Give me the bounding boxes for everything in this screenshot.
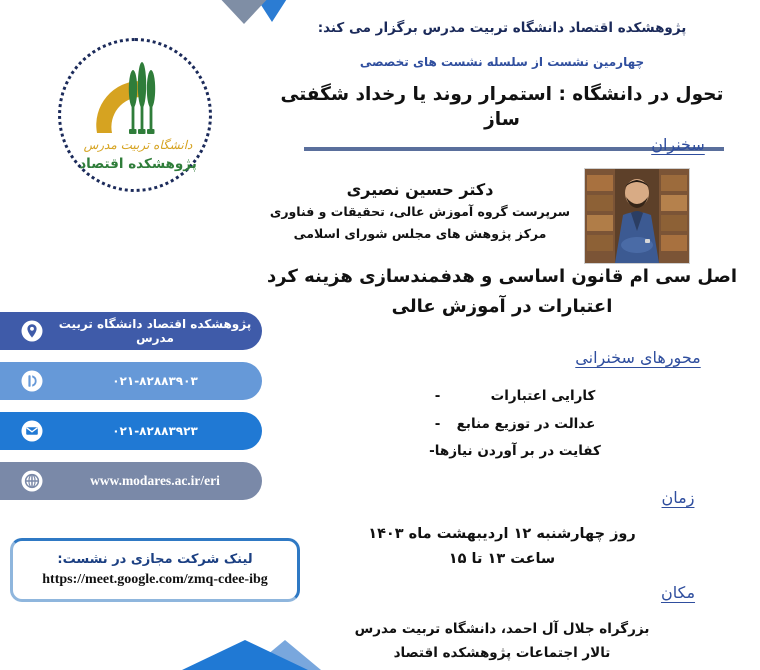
contact-bars: پژوهشکده اقتصاد دانشگاه تربیت مدرس ۰۲۱-۸…: [0, 312, 262, 512]
virtual-meeting-box[interactable]: لینک شرکت مجازی در نشست: https://meet.go…: [10, 538, 300, 602]
speaker-role-line-1: سرپرست گروه آموزش عالی، تحقیقات و فناوری: [265, 201, 575, 223]
speaker-role-line-2: مرکز پژوهش های مجلس شورای اسلامی: [265, 223, 575, 245]
contact-phone-label: ۰۲۱-۸۲۸۸۳۹۰۳: [46, 374, 262, 388]
host-line: پژوهشکده اقتصاد دانشگاه تربیت مدرس برگزا…: [262, 18, 742, 38]
logo-graphic: دانشگاه تربیت مدرس پژوهشکده اقتصاد: [67, 41, 209, 183]
lecture-title-line-1: اصل سی ام قانون اساسی و هدفمندسازی هزینه…: [262, 262, 742, 292]
meeting-link-url[interactable]: https://meet.google.com/zmq-cdee-ibg: [42, 572, 268, 588]
lecture-title-line-2: اعتبارات در آموزش عالی: [262, 292, 742, 322]
place-details: بزرگراه جلال آل احمد، دانشگاه تربیت مدرس…: [262, 617, 742, 666]
topic-dash: -: [429, 438, 435, 466]
logo-university-text: دانشگاه تربیت مدرس: [84, 138, 193, 152]
phone-icon: [20, 369, 44, 393]
list-item: کفایت در بر آوردن نیازها -: [262, 438, 742, 466]
topics-section-heading: محورهای سخنرانی: [538, 348, 738, 367]
lecture-title: اصل سی ام قانون اساسی و هدفمندسازی هزینه…: [262, 262, 742, 321]
topic-label: کارایی اعتبارات: [440, 383, 595, 411]
event-hours: ساعت ۱۳ تا ۱۵: [262, 547, 742, 572]
topics-list: کارایی اعتبارات - عدالت در توزیع منابع -…: [262, 383, 742, 466]
topic-dash: -: [435, 411, 441, 439]
contact-bar-website[interactable]: www.modares.ac.ir/eri: [0, 462, 262, 500]
map-pin-icon: [20, 319, 44, 343]
time-section-heading: زمان: [618, 488, 738, 507]
globe-icon: [20, 469, 44, 493]
event-date: روز چهارشنبه ۱۲ اردیبهشت ماه ۱۴۰۳: [262, 522, 742, 547]
envelope-icon: [20, 419, 44, 443]
contact-bar-fax[interactable]: ۰۲۱-۸۲۸۸۳۹۲۳: [0, 412, 262, 450]
speaker-details: دکتر حسین نصیری سرپرست گروه آموزش عالی، …: [265, 178, 575, 245]
speaker-name: دکتر حسین نصیری: [265, 178, 575, 201]
topic-label: عدالت در توزیع منابع: [440, 411, 595, 439]
logo-institute-text: پژوهشکده اقتصاد: [79, 156, 197, 172]
contact-website-label: www.modares.ac.ir/eri: [46, 473, 262, 489]
header-block: پژوهشکده اقتصاد دانشگاه تربیت مدرس برگزا…: [262, 18, 742, 151]
address-line-1: بزرگراه جلال آل احمد، دانشگاه تربیت مدرس: [262, 617, 742, 641]
page-title: تحول در دانشگاه : استمرار روند یا رخداد …: [262, 83, 742, 133]
speaker-portrait-graphic: [585, 169, 689, 263]
speaker-photo: [584, 168, 690, 264]
meeting-link-title: لینک شرکت مجازی در نشست:: [57, 552, 252, 567]
list-item: عدالت در توزیع منابع -: [262, 411, 742, 439]
contact-bar-phone[interactable]: ۰۲۱-۸۲۸۸۳۹۰۳: [0, 362, 262, 400]
speaker-section-heading: سخنران: [618, 135, 738, 154]
contact-address-label: پژوهشکده اقتصاد دانشگاه تربیت مدرس: [46, 317, 262, 345]
address-line-2: تالار اجتماعات پژوهشکده اقتصاد: [262, 641, 742, 665]
place-section-heading: مکان: [618, 583, 738, 602]
series-line: چهارمین نشست از سلسله نشست های تخصصی: [262, 55, 742, 69]
list-item: کارایی اعتبارات -: [262, 383, 742, 411]
topic-label: کفایت در بر آوردن نیازها: [435, 438, 601, 466]
university-logo: دانشگاه تربیت مدرس پژوهشکده اقتصاد: [58, 38, 212, 192]
event-poster: دانشگاه تربیت مدرس پژوهشکده اقتصاد پژوهش…: [0, 0, 760, 670]
contact-bar-address: پژوهشکده اقتصاد دانشگاه تربیت مدرس: [0, 312, 262, 350]
contact-fax-label: ۰۲۱-۸۲۸۸۳۹۲۳: [46, 424, 262, 438]
time-details: روز چهارشنبه ۱۲ اردیبهشت ماه ۱۴۰۳ ساعت ۱…: [262, 522, 742, 573]
topic-dash: -: [435, 383, 441, 411]
